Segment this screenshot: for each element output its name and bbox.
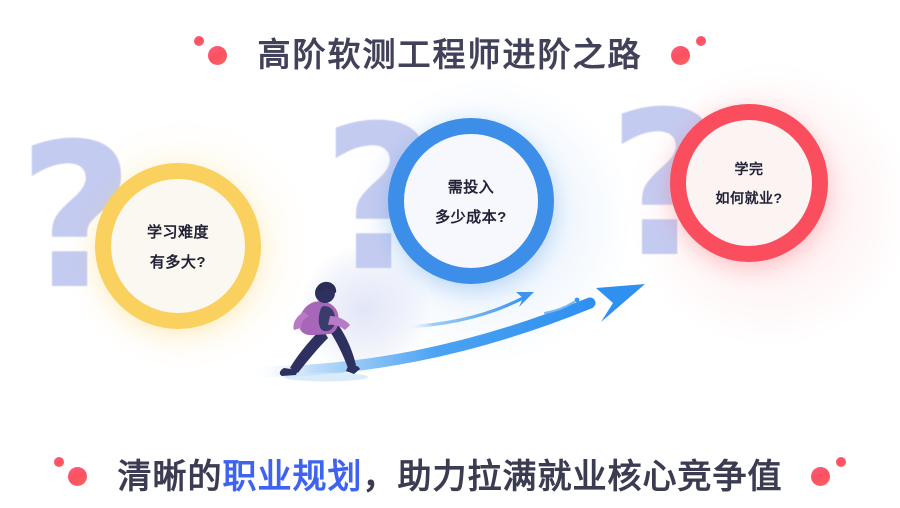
running-person-icon [268,276,388,386]
decor-dot-large [811,467,830,486]
decor-dot-large [68,467,87,486]
page-title: 高阶软测工程师进阶之路 [258,28,643,76]
step-line-2: 如何就业? [715,188,782,208]
decor-dot-small [194,36,204,46]
footer-text-before: 清晰的 [118,458,223,496]
footer-text-after: ，助力拉满就业核心竞争值 [363,458,783,496]
step-line-2: 有多大? [150,251,206,272]
step-circle-employment[interactable]: 学完 如何就业? [670,104,828,262]
step-line-1: 需投入 [448,176,495,197]
dot-cluster-icon [192,32,236,72]
growth-arrow-dash-icon [545,298,579,313]
decor-dot-small [696,36,706,46]
poster-footer-row: 清晰的职业规划，助力拉满就业核心竞争值 [0,440,900,506]
poster-title-row: 高阶软测工程师进阶之路 [0,24,900,80]
dot-cluster-icon [665,32,709,72]
step-circle-inner: 学完 如何就业? [686,120,812,246]
decor-dot-small [54,457,64,467]
growth-arrow-small-icon [403,292,534,327]
dot-cluster-icon [52,453,96,493]
dot-cluster-icon [805,453,849,493]
decor-dot-small [836,457,846,467]
footer-text-highlight: 职业规划 [223,458,363,496]
step-circle-difficulty[interactable]: 学习难度 有多大? [95,163,261,329]
decor-dot-large [208,46,227,65]
step-line-2: 多少成本? [435,206,507,227]
decor-dot-large [671,46,690,65]
step-circle-inner: 需投入 多少成本? [404,134,538,268]
step-circle-inner: 学习难度 有多大? [111,179,245,313]
step-line-1: 学习难度 [147,221,209,242]
footer-tagline: 清晰的职业规划，助力拉满就业核心竞争值 [118,449,783,498]
step-circle-cost[interactable]: 需投入 多少成本? [388,118,554,284]
step-line-1: 学完 [735,159,764,179]
poster-canvas: ? ? ? 高阶软测工程师进阶之路 [0,0,900,508]
